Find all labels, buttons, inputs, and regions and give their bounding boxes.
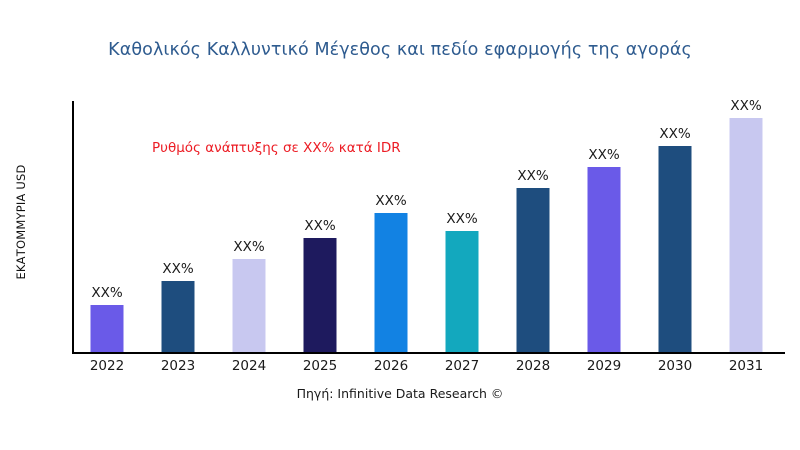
bar-value-label: XX% bbox=[91, 285, 122, 301]
bar-group: XX% bbox=[498, 101, 568, 352]
y-axis-label: ΕΚΑΤΟΜΜΥΡΙΑ USD bbox=[14, 122, 28, 322]
bar-chart-figure: Καθολικός Καλλυντικό Μέγεθος και πεδίο ε… bbox=[0, 0, 800, 450]
bar-group: XX% bbox=[143, 101, 213, 352]
bar-value-label: XX% bbox=[659, 126, 690, 142]
bar-rect[interactable] bbox=[659, 146, 692, 352]
bar-rect[interactable] bbox=[233, 259, 266, 352]
x-tick-label: 2029 bbox=[569, 358, 639, 374]
bar-group: XX% bbox=[285, 101, 355, 352]
bar-value-label: XX% bbox=[730, 98, 761, 114]
x-tick-label: 2025 bbox=[285, 358, 355, 374]
bar-value-label: XX% bbox=[162, 261, 193, 277]
x-tick-label: 2024 bbox=[214, 358, 284, 374]
growth-rate-annotation: Ρυθμός ανάπτυξης σε XX% κατά IDR bbox=[152, 140, 401, 156]
source-caption: Πηγή: Infinitive Data Research © bbox=[0, 386, 800, 401]
x-tick-label: 2031 bbox=[711, 358, 781, 374]
chart-title: Καθολικός Καλλυντικό Μέγεθος και πεδίο ε… bbox=[0, 40, 800, 60]
bar-rect[interactable] bbox=[375, 213, 408, 352]
bar-rect[interactable] bbox=[517, 188, 550, 352]
bar-group: XX% bbox=[640, 101, 710, 352]
bar-group: XX% bbox=[711, 101, 781, 352]
bar-group: XX% bbox=[427, 101, 497, 352]
plot-area: XX% XX% XX% XX% XX% XX% XX% XX% bbox=[72, 101, 785, 352]
bar-value-label: XX% bbox=[375, 193, 406, 209]
x-tick-label: 2022 bbox=[72, 358, 142, 374]
bar-rect[interactable] bbox=[730, 118, 763, 352]
bar-rect[interactable] bbox=[162, 281, 195, 352]
bar-value-label: XX% bbox=[304, 218, 335, 234]
bar-rect[interactable] bbox=[588, 167, 621, 352]
bar-rect[interactable] bbox=[446, 231, 479, 352]
bar-value-label: XX% bbox=[446, 211, 477, 227]
x-tick-label: 2028 bbox=[498, 358, 568, 374]
x-tick-label: 2030 bbox=[640, 358, 710, 374]
bar-value-label: XX% bbox=[588, 147, 619, 163]
bar-value-label: XX% bbox=[233, 239, 264, 255]
x-axis-line bbox=[72, 352, 785, 354]
bar-rect[interactable] bbox=[91, 305, 124, 352]
bar-group: XX% bbox=[356, 101, 426, 352]
bar-group: XX% bbox=[72, 101, 142, 352]
bar-rect[interactable] bbox=[304, 238, 337, 352]
x-tick-label: 2027 bbox=[427, 358, 497, 374]
bar-group: XX% bbox=[214, 101, 284, 352]
bar-value-label: XX% bbox=[517, 168, 548, 184]
bar-group: XX% bbox=[569, 101, 639, 352]
x-tick-label: 2023 bbox=[143, 358, 213, 374]
x-tick-label: 2026 bbox=[356, 358, 426, 374]
